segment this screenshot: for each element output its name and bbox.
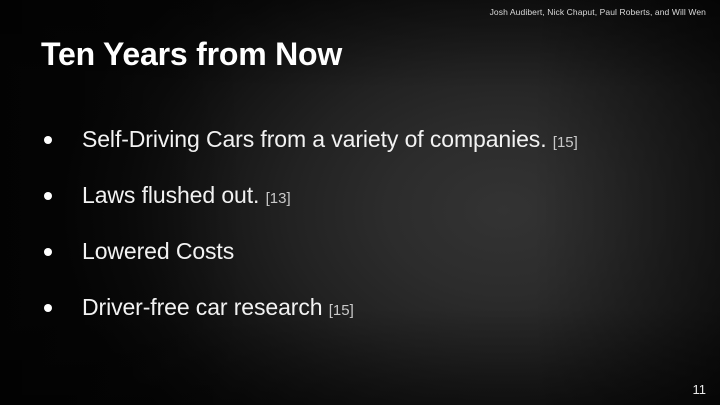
list-item: Laws flushed out. [13]: [41, 169, 661, 225]
presentation-slide: Josh Audibert, Nick Chaput, Paul Roberts…: [0, 0, 720, 405]
citation-reference: [13]: [266, 190, 291, 207]
list-item-text: Lowered Costs: [82, 238, 234, 264]
list-item: Self-Driving Cars from a variety of comp…: [41, 113, 661, 169]
bullet-list: Self-Driving Cars from a variety of comp…: [41, 113, 661, 337]
bullet-dot-icon: [44, 304, 52, 312]
authors-line: Josh Audibert, Nick Chaput, Paul Roberts…: [490, 7, 706, 17]
list-item-text: Laws flushed out.: [82, 182, 259, 208]
list-item-text: Self-Driving Cars from a variety of comp…: [82, 126, 547, 152]
bullet-dot-icon: [44, 248, 52, 256]
bullet-dot-icon: [44, 192, 52, 200]
list-item-text: Driver-free car research: [82, 294, 322, 320]
slide-page-number: 11: [693, 382, 707, 397]
bullet-dot-icon: [44, 136, 52, 144]
citation-reference: [15]: [329, 302, 354, 319]
list-item: Driver-free car research [15]: [41, 281, 661, 337]
citation-reference: [15]: [553, 134, 578, 151]
page-title: Ten Years from Now: [41, 36, 342, 73]
list-item: Lowered Costs: [41, 225, 661, 281]
